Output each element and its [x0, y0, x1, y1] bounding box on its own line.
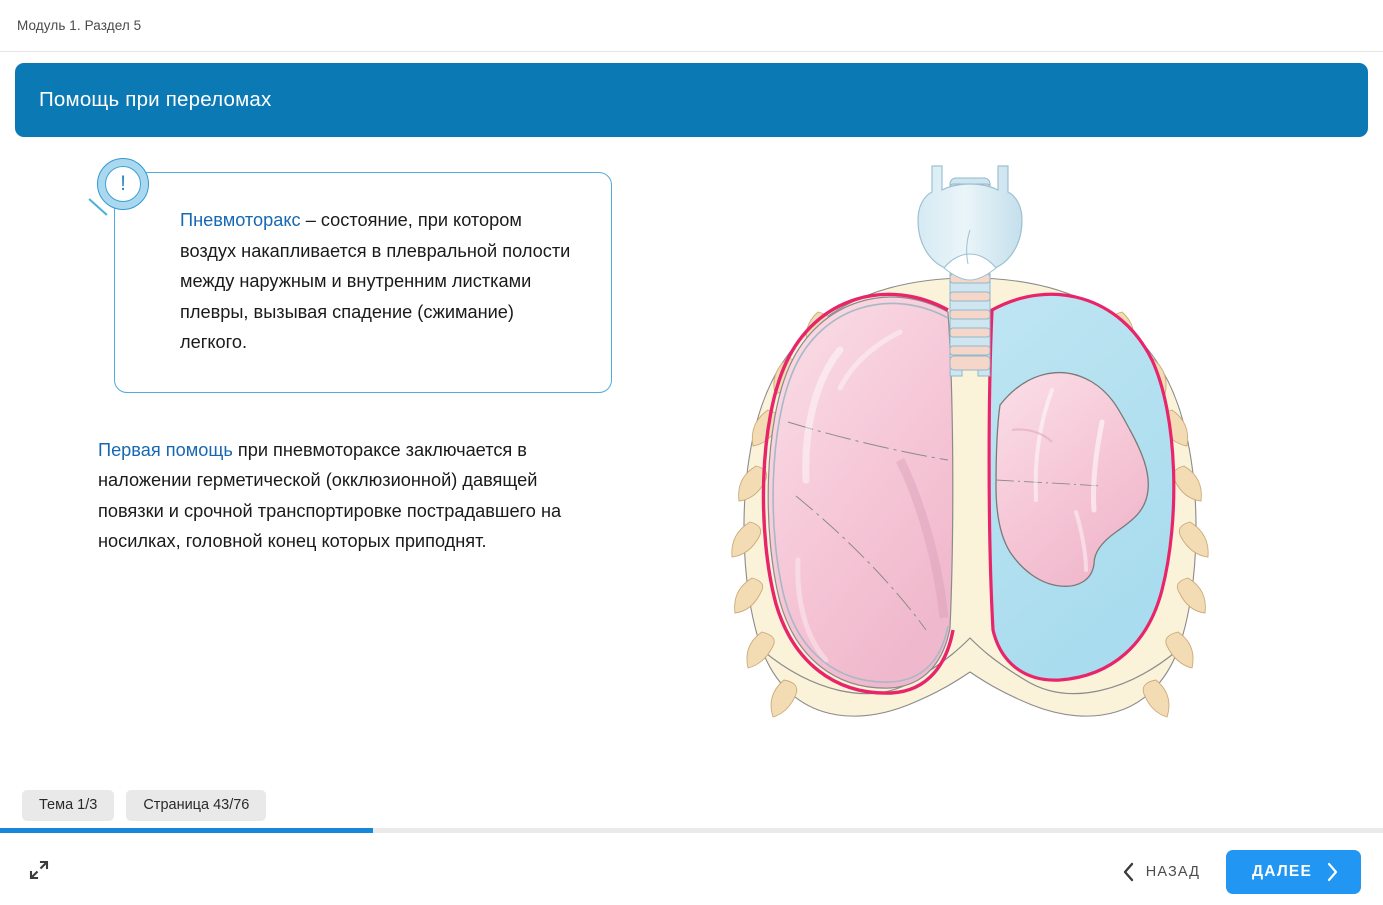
chevron-right-icon [1326, 862, 1339, 882]
exclamation-glyph: ! [120, 173, 126, 194]
slide-viewer: Модуль 1. Раздел 5 Помощь при переломах … [0, 0, 1383, 905]
chevron-left-icon [1122, 862, 1135, 882]
status-badges: Тема 1/3 Страница 43/76 [22, 790, 266, 821]
definition-callout: ! Пневмоторакс – состояние, при котором … [97, 172, 612, 393]
page-title: Помощь при переломах [39, 88, 271, 112]
next-button-label: ДАЛЕЕ [1252, 863, 1312, 881]
footer-nav: НАЗАД ДАЛЕЕ [0, 833, 1383, 905]
badge-topic: Тема 1/3 [22, 790, 114, 821]
body-paragraph: Первая помощь при пневмотораксе заключае… [98, 435, 598, 557]
paragraph-keyword: Первая помощь [98, 440, 233, 460]
callout-body: – состояние, при котором воздух накаплив… [180, 210, 570, 352]
callout-box: Пневмоторакс – состояние, при котором во… [114, 172, 612, 393]
fullscreen-icon[interactable] [26, 857, 52, 883]
lungs-pneumothorax-illustration [700, 160, 1240, 760]
text-column: ! Пневмоторакс – состояние, при котором … [97, 172, 627, 557]
callout-text: Пневмоторакс – состояние, при котором во… [180, 205, 581, 358]
callout-keyword: Пневмоторакс [180, 210, 301, 230]
slide-content: ! Пневмоторакс – состояние, при котором … [0, 150, 1383, 790]
back-button[interactable]: НАЗАД [1118, 856, 1204, 888]
next-button[interactable]: ДАЛЕЕ [1226, 850, 1361, 894]
breadcrumb: Модуль 1. Раздел 5 [17, 18, 141, 33]
badge-page: Страница 43/76 [126, 790, 266, 821]
exclamation-icon: ! [97, 158, 149, 210]
back-button-label: НАЗАД [1146, 864, 1200, 880]
nav-buttons: НАЗАД ДАЛЕЕ [1118, 850, 1361, 894]
badge-inner: ! [105, 166, 141, 202]
slide-title-banner: Помощь при переломах [15, 63, 1368, 137]
topbar: Модуль 1. Раздел 5 [0, 0, 1383, 52]
